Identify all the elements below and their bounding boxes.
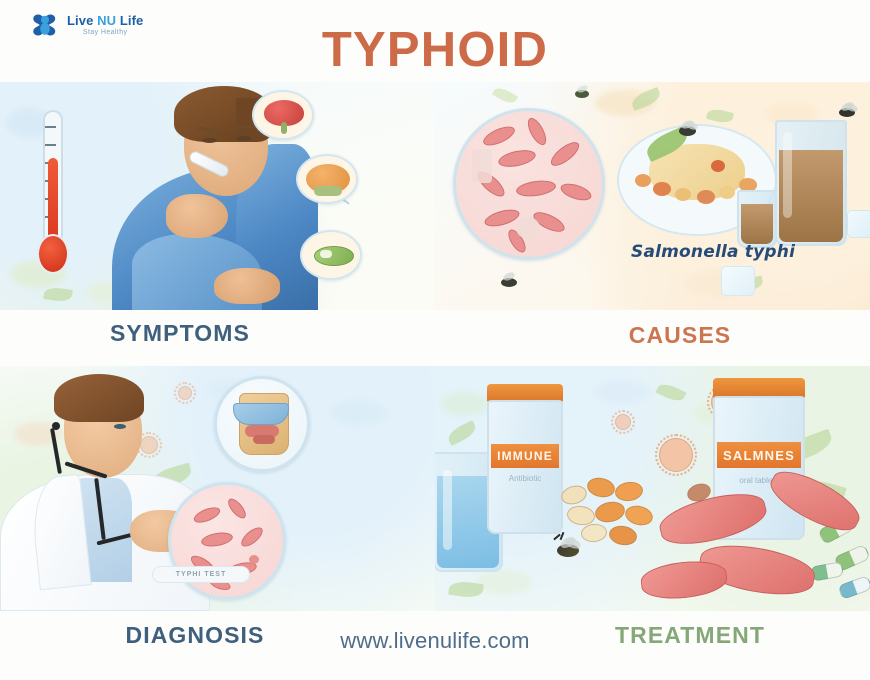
stool-sample-collection-bag-icon[interactable] [214, 376, 310, 472]
callout-red-organ-icon[interactable] [252, 90, 314, 140]
panel-symptoms [0, 82, 435, 310]
label-causes: CAUSES [520, 322, 840, 349]
page-title: TYPHOID [0, 22, 870, 78]
doctor-hair [54, 374, 144, 422]
patient-hand-upper [166, 194, 228, 238]
glass-of-dirty-water [775, 120, 847, 246]
virus-particle-3 [615, 414, 631, 430]
panel-causes: Salmonella typhi [435, 82, 870, 310]
bottle-body-left: IMMUNE Antibiotic [487, 400, 563, 534]
ice-cube-2 [721, 266, 755, 296]
ice-cube-1 [847, 210, 870, 238]
bottle-label-sub-left: Antibiotic [491, 474, 559, 483]
virus-particle-2 [659, 438, 693, 472]
bottle-label-band-left: IMMUNE [491, 444, 559, 468]
website-url[interactable]: www.livenulife.com [0, 628, 870, 654]
patient-hand-lower [214, 268, 280, 304]
petri-dish-with-salmonella-rods [453, 108, 605, 260]
bottle-cap-right [713, 378, 805, 398]
label-symptoms: SYMPTOMS [0, 320, 360, 347]
test-tube-label: TYPHI TEST [152, 566, 250, 583]
callout-green-bacteria-icon[interactable] [300, 230, 362, 280]
typhoid-infographic-poster: Live NU Life Stay Healthy TYPHOID [0, 0, 870, 680]
bottle-label-band-right: SALMNES [717, 442, 801, 468]
callout-intestine-icon[interactable] [296, 154, 358, 204]
small-glass-of-dirty-water [737, 190, 777, 248]
fever-thermometer-icon [35, 110, 71, 278]
antibiotic-bottle-left[interactable]: IMMUNE Antibiotic [487, 384, 563, 534]
patient-eye-left [202, 138, 217, 143]
scientific-name-label: Salmonella typhi [631, 242, 795, 262]
panel-treatment: IMMUNE Antibiotic SALMNES oral tablets [435, 366, 870, 611]
patient-eye-right [236, 136, 251, 141]
